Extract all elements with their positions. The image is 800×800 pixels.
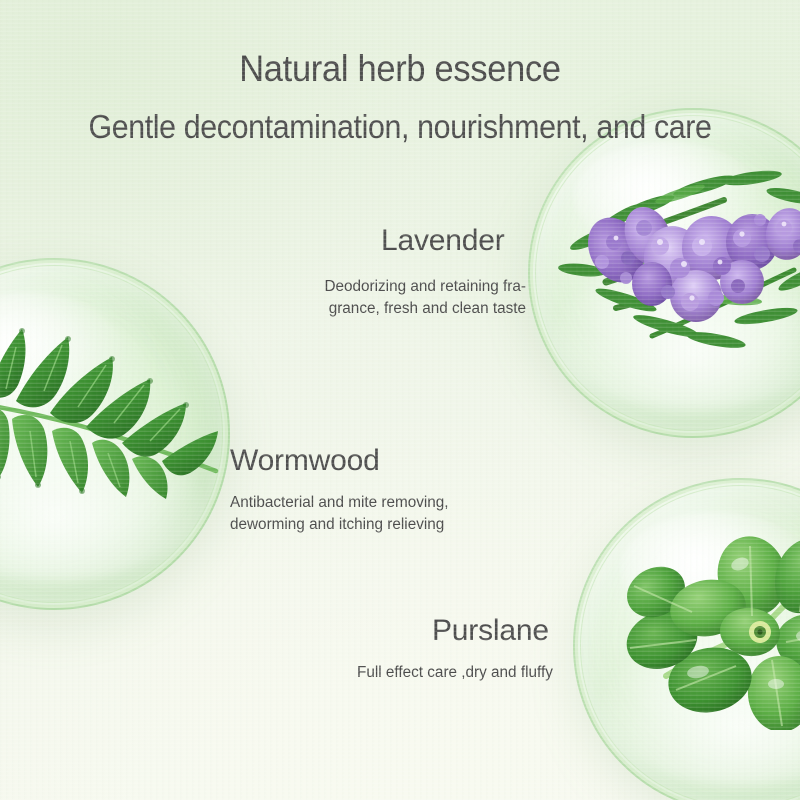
herb-description-line: Deodorizing and retaining fra- <box>268 276 526 298</box>
herb-description-line: deworming and itching relieving <box>230 514 510 536</box>
herb-description-line: Antibacterial and mite removing, <box>230 492 510 514</box>
glass-sphere-wormwood <box>0 258 230 610</box>
sphere-gloss-highlight <box>574 141 759 253</box>
herb-description-line: grance, fresh and clean taste <box>268 298 526 320</box>
herb-description-lavender: Deodorizing and retaining fra- grance, f… <box>268 276 526 320</box>
herb-description-line: Full effect care ,dry and fluffy <box>357 662 572 684</box>
sphere-gloss-highlight <box>620 512 800 626</box>
herb-title-purslane: Purslane <box>432 614 549 648</box>
page-title: Natural herb essence <box>28 48 772 90</box>
herb-description-purslane: Full effect care ,dry and fluffy <box>357 662 572 684</box>
page-subtitle: Gentle decontamination, nourishment, and… <box>32 108 768 146</box>
glass-sphere-purslane <box>573 478 800 800</box>
herb-description-wormwood: Antibacterial and mite removing, dewormi… <box>230 492 510 536</box>
herb-title-lavender: Lavender <box>381 224 505 258</box>
glass-sphere-lavender <box>528 108 800 438</box>
herb-title-wormwood: Wormwood <box>230 444 380 478</box>
product-promo-poster: Natural herb essence Gentle decontaminat… <box>0 0 800 800</box>
